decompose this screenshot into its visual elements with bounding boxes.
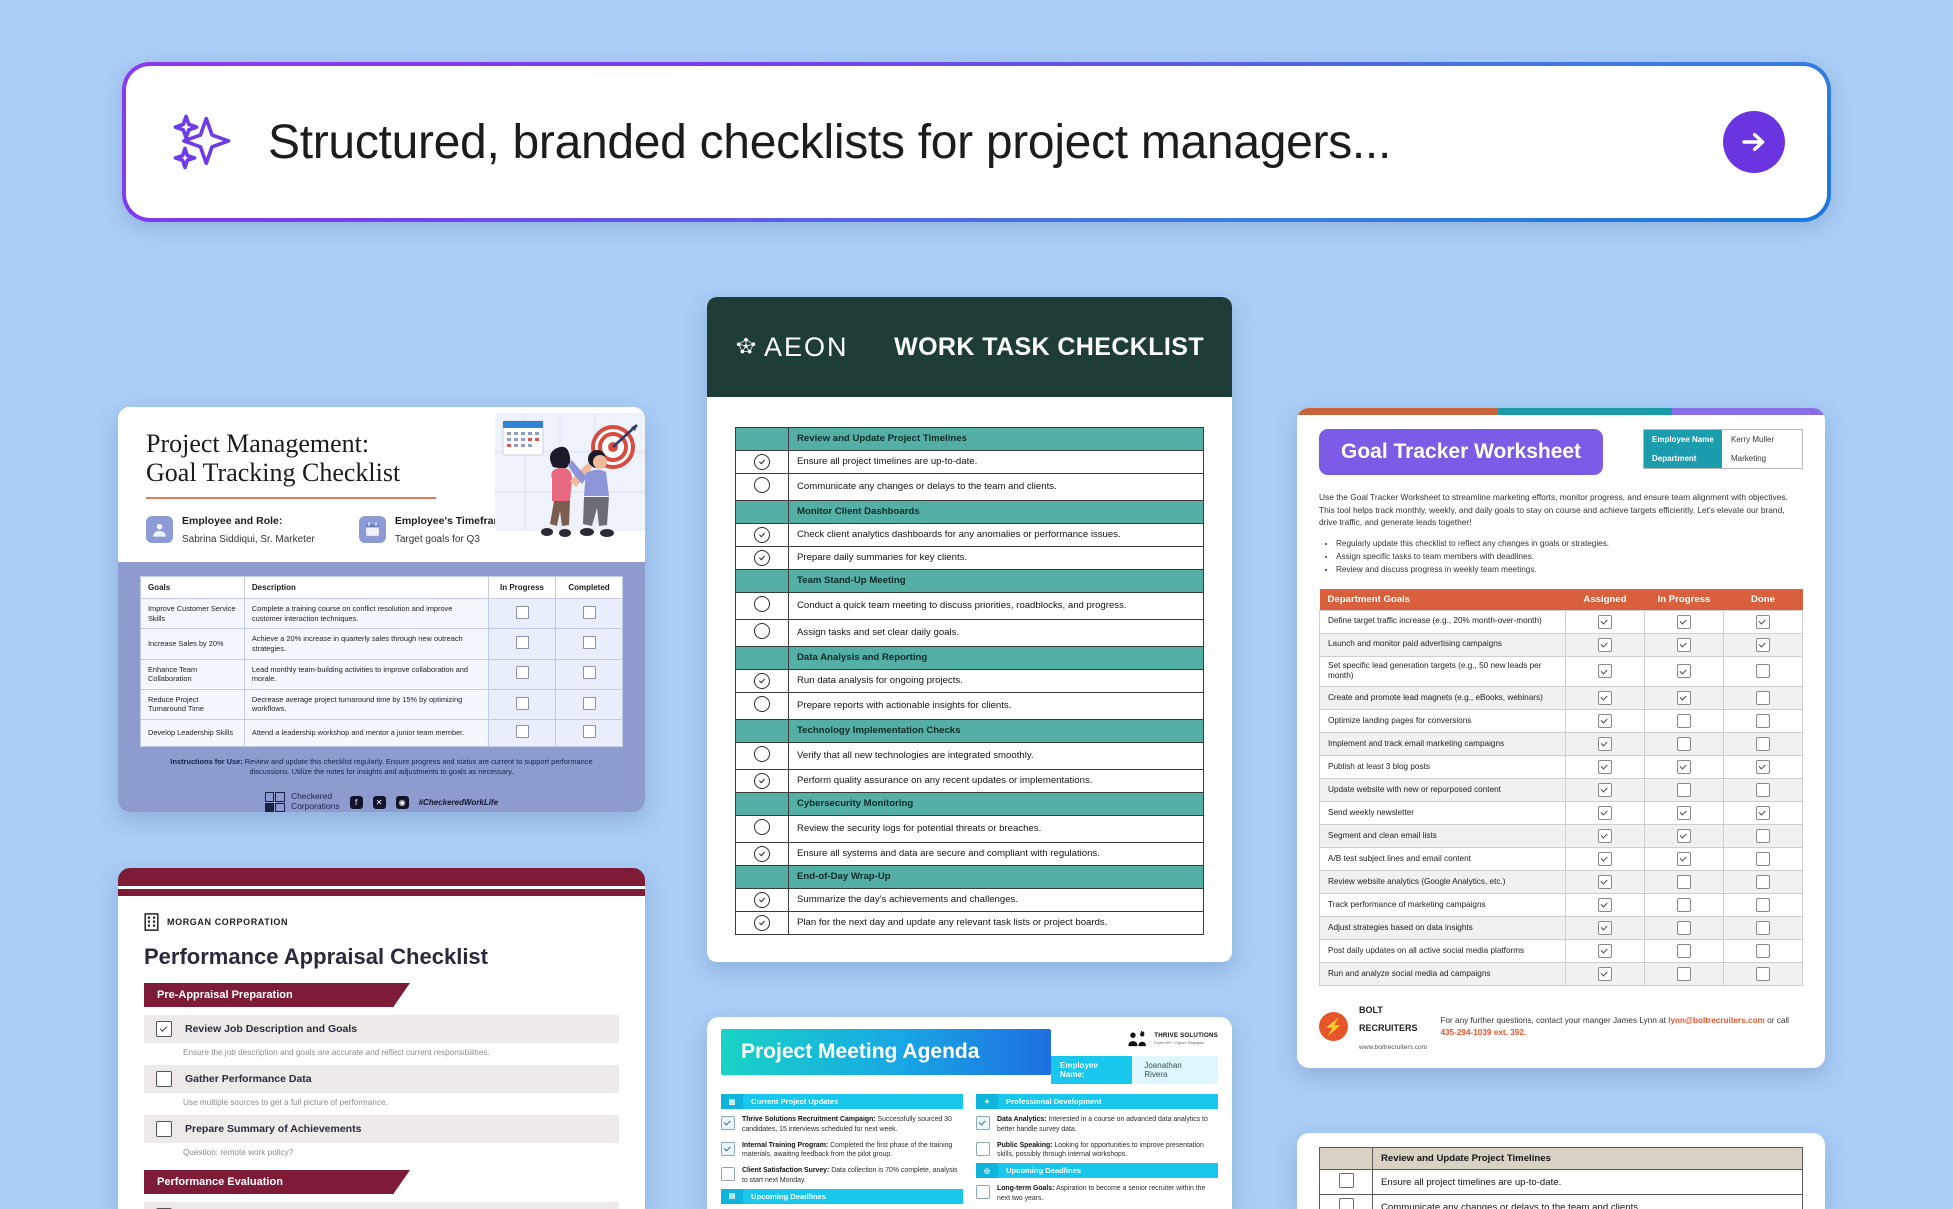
gt-cell-assigned[interactable] <box>1566 939 1645 962</box>
checkbox[interactable] <box>1339 1173 1354 1188</box>
pm-cell-in-progress[interactable] <box>489 720 556 747</box>
aeon-item-text: Run data analysis for ongoing projects. <box>789 669 1204 692</box>
section-heading-row: Monitor Client Dashboards <box>736 500 1204 523</box>
checkbox[interactable] <box>976 1185 990 1199</box>
gt-cell-in-progress[interactable] <box>1645 610 1724 633</box>
gt-cell-in-progress[interactable] <box>1645 656 1724 686</box>
chart-icon: ▥ <box>721 1094 743 1109</box>
checkbox[interactable] <box>1756 760 1770 774</box>
gt-cell-done[interactable] <box>1724 962 1803 985</box>
checkbox[interactable] <box>1677 944 1691 958</box>
gt-cell-done[interactable] <box>1724 686 1803 709</box>
checkbox-circle[interactable] <box>754 596 770 612</box>
pm-cell-completed[interactable] <box>556 720 623 747</box>
gt-cell-in-progress[interactable] <box>1645 870 1724 893</box>
checkbox[interactable] <box>1677 783 1691 797</box>
gt-stripe-bar <box>1297 408 1825 415</box>
table-row: Prepare daily summaries for key clients. <box>736 546 1204 569</box>
gt-cell-assigned[interactable] <box>1566 962 1645 985</box>
checkbox[interactable] <box>1677 806 1691 820</box>
section-heading-row: Review and Update Project Timelines <box>736 428 1204 451</box>
gt-cell-done[interactable] <box>1724 801 1803 824</box>
checkbox[interactable] <box>1677 875 1691 889</box>
person-icon <box>146 516 173 543</box>
aeon-check-cell[interactable] <box>736 742 789 769</box>
pm-brand-line1: Checkered <box>291 791 332 801</box>
table-row: Create and promote lead magnets (e.g., e… <box>1320 686 1803 709</box>
checkbox-circle[interactable] <box>754 819 770 835</box>
pm-cell-in-progress[interactable] <box>489 599 556 629</box>
checkbox[interactable] <box>583 636 596 649</box>
list-item[interactable]: Gather Performance Data <box>144 1065 619 1093</box>
table-row: Communicate any changes or delays to the… <box>736 473 1204 500</box>
checkbox[interactable] <box>976 1116 990 1130</box>
aeon-check-cell[interactable] <box>736 523 789 546</box>
gt-cell-in-progress[interactable] <box>1645 633 1724 656</box>
checkbox[interactable] <box>1677 737 1691 751</box>
checkbox[interactable] <box>1756 664 1770 678</box>
list-item[interactable]: Review Job Description and Goals <box>144 1015 619 1043</box>
checkbox[interactable] <box>1598 783 1612 797</box>
aeon-section-heading: Cybersecurity Monitoring <box>789 792 1204 815</box>
gt-cell-in-progress[interactable] <box>1645 939 1724 962</box>
card-review-timelines-peek[interactable]: Review and Update Project TimelinesEnsur… <box>1297 1133 1825 1209</box>
pm-cell-completed[interactable] <box>556 599 623 629</box>
gt-cell-assigned[interactable] <box>1566 893 1645 916</box>
section-heading-row: End-of-Day Wrap-Up <box>736 865 1204 888</box>
gt-cell-done[interactable] <box>1724 824 1803 847</box>
gt-content: Goal Tracker Worksheet Employee NameKerr… <box>1297 415 1825 1054</box>
gt-cell-goal: Send weekly newsletter <box>1320 801 1566 824</box>
checkbox[interactable] <box>1756 714 1770 728</box>
gt-cell-in-progress[interactable] <box>1645 755 1724 778</box>
pm-brand: CheckeredCorporations <box>265 792 340 812</box>
checkbox[interactable] <box>1756 638 1770 652</box>
checkbox-circle[interactable] <box>754 454 770 470</box>
checkbox[interactable] <box>1677 615 1691 629</box>
checkbox[interactable] <box>516 636 529 649</box>
checkbox[interactable] <box>721 1167 735 1181</box>
aeon-section-heading: Monitor Client Dashboards <box>789 500 1204 523</box>
aeon-check-cell[interactable] <box>736 473 789 500</box>
gt-cell-in-progress[interactable] <box>1645 847 1724 870</box>
table-row: Increase Sales by 20%Achieve a 20% incre… <box>141 629 623 659</box>
aeon-item-text: Prepare daily summaries for key clients. <box>789 546 1204 569</box>
gt-footer: ⚡ BOLT RECRUITERS www.boltrecruiters.com… <box>1319 1000 1803 1054</box>
gt-cell-in-progress[interactable] <box>1645 686 1724 709</box>
stripe-1 <box>1498 408 1672 415</box>
pm-cell-goal: Develop Leadership Skills <box>141 720 245 747</box>
table-row: Reduce Project Turnaround TimeDecrease a… <box>141 689 623 719</box>
list-item[interactable]: Internal Training Program: Completed the… <box>721 1138 963 1164</box>
checkbox-circle[interactable] <box>754 892 770 908</box>
checkbox[interactable] <box>1756 967 1770 981</box>
pf-sections: Pre-Appraisal PreparationReview Job Desc… <box>144 983 619 1209</box>
ag-item-text: Data Analytics: Interested in a course o… <box>997 1115 1218 1135</box>
list-item[interactable]: Thrive Solutions Recruitment Campaign: S… <box>721 1112 963 1138</box>
gt-col-in-progress: In Progress <box>1645 589 1724 611</box>
checkbox-circle[interactable] <box>754 773 770 789</box>
checkbox[interactable] <box>1756 875 1770 889</box>
checkbox-circle[interactable] <box>754 550 770 566</box>
checkbox[interactable] <box>1756 783 1770 797</box>
checkbox[interactable] <box>1598 714 1612 728</box>
gt-contact-text: For any further questions, contact your … <box>1440 1015 1803 1039</box>
prompt-input-text[interactable]: Structured, branded checklists for proje… <box>268 115 1723 170</box>
checkbox[interactable] <box>1598 852 1612 866</box>
pm-col-in-progress: In Progress <box>489 577 556 599</box>
card-aeon-work-task-checklist[interactable]: AEON WORK TASK CHECKLIST Review and Upda… <box>707 297 1232 962</box>
gt-cell-done[interactable] <box>1724 939 1803 962</box>
checkbox[interactable] <box>1677 638 1691 652</box>
pm-cell-in-progress[interactable] <box>489 629 556 659</box>
pm-footer: CheckeredCorporations f ✕ ◉ #CheckeredWo… <box>140 792 623 812</box>
aeon-check-cell[interactable] <box>736 546 789 569</box>
gt-cell-assigned[interactable] <box>1566 656 1645 686</box>
aeon-check-cell[interactable] <box>736 769 789 792</box>
aeon-checklist-table: Review and Update Project TimelinesEnsur… <box>735 427 1204 935</box>
pm-cell-desc: Achieve a 20% increase in quarterly sale… <box>244 629 488 659</box>
checkbox-circle[interactable] <box>754 673 770 689</box>
aeon-item-text: Perform quality assurance on any recent … <box>789 769 1204 792</box>
gt-cell-done[interactable] <box>1724 847 1803 870</box>
checkbox[interactable] <box>156 1021 172 1037</box>
table-row: Update website with new or repurposed co… <box>1320 778 1803 801</box>
list-item[interactable]: Data Analytics: Interested in a course o… <box>976 1112 1218 1138</box>
aeon-logo-text: AEON <box>764 332 849 363</box>
checkbox[interactable] <box>1677 967 1691 981</box>
aeon-item-text: Prepare reports with actionable insights… <box>789 692 1204 719</box>
pf-item-note: Ensure the job description and goals are… <box>183 1048 619 1057</box>
gt-cell-assigned[interactable] <box>1566 709 1645 732</box>
gt-cell-in-progress[interactable] <box>1645 916 1724 939</box>
x-icon[interactable]: ✕ <box>373 796 386 809</box>
checkbox[interactable] <box>1598 875 1612 889</box>
gt-contact-email[interactable]: lynn@boltrecruiters.com <box>1668 1016 1765 1025</box>
checkbox[interactable] <box>1677 898 1691 912</box>
pm-instructions-text: Review and update this checklist regular… <box>243 757 593 777</box>
gt-cell-assigned[interactable] <box>1566 686 1645 709</box>
checkered-logo-icon <box>265 792 285 812</box>
thrive-people-icon <box>1127 1031 1149 1047</box>
ag-item-text: Long-term Goals: Aspiration to become a … <box>997 1184 1218 1204</box>
gt-brand-name: BOLT RECRUITERS <box>1359 1005 1418 1033</box>
gt-cell-done[interactable] <box>1724 893 1803 916</box>
pm-hashtag: #CheckeredWorkLife <box>419 798 498 807</box>
gt-bullet-list: Regularly update this checklist to refle… <box>1319 537 1803 577</box>
checkbox[interactable] <box>1598 967 1612 981</box>
card-performance-appraisal-checklist[interactable]: MORGAN CORPORATION Performance Appraisal… <box>118 868 645 1209</box>
ag-employee-field: Employee Name: Joanathan Rivera <box>1051 1056 1218 1084</box>
pm-cell-completed[interactable] <box>556 629 623 659</box>
table-row: Publish at least 3 blog posts <box>1320 755 1803 778</box>
checkbox[interactable] <box>1598 921 1612 935</box>
facebook-icon[interactable]: f <box>350 796 363 809</box>
checkbox[interactable] <box>1756 852 1770 866</box>
gt-cell-assigned[interactable] <box>1566 778 1645 801</box>
checkbox[interactable] <box>1677 714 1691 728</box>
gt-cell-assigned[interactable] <box>1566 610 1645 633</box>
gt-cell-in-progress[interactable] <box>1645 709 1724 732</box>
checkbox[interactable] <box>1677 921 1691 935</box>
gt-title: Goal Tracker Worksheet <box>1319 429 1603 475</box>
checkbox[interactable] <box>1756 615 1770 629</box>
gt-field-value-1[interactable]: Marketing <box>1722 449 1802 468</box>
table-row: Review website analytics (Google Analyti… <box>1320 870 1803 893</box>
table-row: Define target traffic increase (e.g., 20… <box>1320 610 1803 633</box>
checkbox[interactable] <box>1756 898 1770 912</box>
checkbox[interactable] <box>1677 852 1691 866</box>
checkbox[interactable] <box>1598 760 1612 774</box>
checkbox[interactable] <box>976 1142 990 1156</box>
checkbox-circle[interactable] <box>754 623 770 639</box>
checkbox[interactable] <box>583 666 596 679</box>
aeon-logo: AEON <box>735 332 849 363</box>
stripe-2 <box>1672 408 1825 415</box>
table-row: Segment and clean email lists <box>1320 824 1803 847</box>
stripe-0 <box>1297 408 1498 415</box>
checkbox[interactable] <box>1339 1198 1354 1209</box>
pm-cell-completed[interactable] <box>556 659 623 689</box>
ag-item-text: Thrive Solutions Recruitment Campaign: S… <box>742 1115 963 1135</box>
checkbox[interactable] <box>1756 806 1770 820</box>
checkbox-circle[interactable] <box>754 477 770 493</box>
gt-cell-assigned[interactable] <box>1566 633 1645 656</box>
gt-cell-assigned[interactable] <box>1566 824 1645 847</box>
gt-cell-goal: Review website analytics (Google Analyti… <box>1320 870 1566 893</box>
aeon-check-cell[interactable] <box>736 842 789 865</box>
table-row: Optimize landing pages for conversions <box>1320 709 1803 732</box>
checkbox[interactable] <box>1756 691 1770 705</box>
pm-col-completed: Completed <box>556 577 623 599</box>
pm-goals-table: Goals Description In Progress Completed … <box>140 576 623 747</box>
pm-cell-desc: Attend a leadership workshop and mentor … <box>244 720 488 747</box>
pm-divider <box>146 497 436 499</box>
checkbox[interactable] <box>516 606 529 619</box>
gt-cell-in-progress[interactable] <box>1645 824 1724 847</box>
aeon-check-cell[interactable] <box>736 619 789 646</box>
aeon-item-text: Plan for the next day and update any rel… <box>789 911 1204 934</box>
table-row: Adjust strategies based on data insights <box>1320 916 1803 939</box>
pm-table-header-row: Goals Description In Progress Completed <box>141 577 623 599</box>
ag-employee-label: Employee Name: <box>1051 1056 1132 1084</box>
pm-cell-completed[interactable] <box>556 689 623 719</box>
aeon-check-cell[interactable] <box>736 888 789 911</box>
gt-cell-done[interactable] <box>1724 633 1803 656</box>
submit-button[interactable] <box>1723 111 1785 173</box>
list-item[interactable]: Long-term Goals: Aspiration to become a … <box>976 1181 1218 1207</box>
gt-cell-assigned[interactable] <box>1566 801 1645 824</box>
gt-cell-done[interactable] <box>1724 610 1803 633</box>
gt-cell-assigned[interactable] <box>1566 916 1645 939</box>
gt-brand-url: www.boltrecruiters.com <box>1359 1044 1427 1051</box>
checkbox[interactable] <box>1598 691 1612 705</box>
card-project-meeting-agenda[interactable]: Project Meeting Agenda THRIVE SOLUTIONSE… <box>707 1017 1232 1209</box>
checkbox[interactable] <box>1677 664 1691 678</box>
pm-body: Goals Description In Progress Completed … <box>118 562 645 812</box>
bolt-icon: ⚡ <box>1319 1012 1348 1041</box>
table-row: Run and analyze social media ad campaign… <box>1320 962 1803 985</box>
pf-title: Performance Appraisal Checklist <box>144 944 619 970</box>
gt-cell-assigned[interactable] <box>1566 847 1645 870</box>
table-row: Enhance Team CollaborationLead monthly t… <box>141 659 623 689</box>
list-item[interactable]: Evaluate Performance Against Goals <box>144 1202 619 1209</box>
pf-second-bar <box>118 889 645 896</box>
gt-contact-pre: For any further questions, contact your … <box>1440 1016 1668 1025</box>
ag-employee-value[interactable]: Joanathan Rivera <box>1132 1056 1218 1084</box>
list-item[interactable]: Public Speaking: Looking for opportuniti… <box>976 1138 1218 1164</box>
gt-cell-done[interactable] <box>1724 755 1803 778</box>
checkbox[interactable] <box>156 1071 172 1087</box>
gt-cell-done[interactable] <box>1724 732 1803 755</box>
pf-content: MORGAN CORPORATION Performance Appraisal… <box>118 896 645 1209</box>
pm-col-goals: Goals <box>141 577 245 599</box>
instagram-icon[interactable]: ◉ <box>396 796 409 809</box>
table-row: Track performance of marketing campaigns <box>1320 893 1803 916</box>
gt-field-label-1: Department <box>1644 449 1722 468</box>
table-row: Send weekly newsletter <box>1320 801 1803 824</box>
table-row: Ensure all systems and data are secure a… <box>736 842 1204 865</box>
gt-cell-goal: Implement and track email marketing camp… <box>1320 732 1566 755</box>
list-item[interactable]: Prepare Summary of Achievements <box>144 1115 619 1143</box>
pf-item-note: Use multiple sources to get a full pictu… <box>183 1098 619 1107</box>
checkbox[interactable] <box>156 1121 172 1137</box>
aeon-check-cell[interactable] <box>736 911 789 934</box>
gt-cell-goal: Adjust strategies based on data insights <box>1320 916 1566 939</box>
gt-cell-assigned[interactable] <box>1566 870 1645 893</box>
checkbox[interactable] <box>721 1142 735 1156</box>
checkbox[interactable] <box>1598 944 1612 958</box>
pf-section-heading: Pre-Appraisal Preparation <box>144 983 394 1007</box>
gt-col-assigned: Assigned <box>1566 589 1645 611</box>
checkbox[interactable] <box>721 1116 735 1130</box>
checkbox[interactable] <box>1598 664 1612 678</box>
ag-section-heading: ▤Upcoming Deadlines <box>721 1189 963 1204</box>
aeon-section-heading: Team Stand-Up Meeting <box>789 569 1204 592</box>
ag-section-label: Current Project Updates <box>743 1097 838 1106</box>
pm-meta-employee-label: Employee and Role: <box>182 515 282 527</box>
pm-cell-in-progress[interactable] <box>489 689 556 719</box>
gt-cell-goal: Publish at least 3 blog posts <box>1320 755 1566 778</box>
ag-logo-name: THRIVE SOLUTIONS <box>1154 1032 1218 1039</box>
checkbox[interactable] <box>1598 806 1612 820</box>
checkbox-circle[interactable] <box>754 696 770 712</box>
table-row: Improve Customer Service SkillsComplete … <box>141 599 623 629</box>
gt-cell-in-progress[interactable] <box>1645 962 1724 985</box>
ag-logo: THRIVE SOLUTIONSExpert HR + Culture Stra… <box>1051 1031 1218 1047</box>
pm-cell-desc: Complete a training course on conflict r… <box>244 599 488 629</box>
aeon-check-cell[interactable] <box>736 692 789 719</box>
table-row: Implement and track email marketing camp… <box>1320 732 1803 755</box>
checkbox-circle[interactable] <box>754 846 770 862</box>
ag-section-label: Upcoming Deadlines <box>743 1192 826 1201</box>
ag-title: Project Meeting Agenda <box>721 1029 1051 1075</box>
checkbox[interactable] <box>583 606 596 619</box>
gt-field-value-0[interactable]: Kerry Muller <box>1722 430 1802 449</box>
gt-cell-assigned[interactable] <box>1566 755 1645 778</box>
aeon-section-heading: Technology Implementation Checks <box>789 719 1204 742</box>
pf-item-title: Review Job Description and Goals <box>185 1023 357 1035</box>
aeon-item-text: Summarize the day's achievements and cha… <box>789 888 1204 911</box>
checkbox[interactable] <box>583 697 596 710</box>
section-heading-row: Team Stand-Up Meeting <box>736 569 1204 592</box>
pk-check-cell[interactable] <box>1320 1170 1373 1195</box>
checkbox[interactable] <box>1598 615 1612 629</box>
checkbox[interactable] <box>516 725 529 738</box>
prompt-bar[interactable]: Structured, branded checklists for proje… <box>122 62 1831 222</box>
ag-item-text: Internal Training Program: Completed the… <box>742 1141 963 1161</box>
pm-col-description: Description <box>244 577 488 599</box>
pm-cell-in-progress[interactable] <box>489 659 556 689</box>
gt-col-done: Done <box>1724 589 1803 611</box>
target-icon: ◎ <box>976 1163 998 1178</box>
checkbox[interactable] <box>1598 638 1612 652</box>
section-heading-row: Technology Implementation Checks <box>736 719 1204 742</box>
gt-cell-done[interactable] <box>1724 916 1803 939</box>
gt-cell-done[interactable] <box>1724 709 1803 732</box>
pk-check-cell[interactable] <box>1320 1195 1373 1209</box>
aeon-body: Review and Update Project TimelinesEnsur… <box>707 397 1232 962</box>
ag-right-column: ✦Professional DevelopmentData Analytics:… <box>976 1094 1218 1209</box>
checkbox[interactable] <box>1756 737 1770 751</box>
building-icon <box>144 913 159 931</box>
gt-cell-in-progress[interactable] <box>1645 732 1724 755</box>
checkbox[interactable] <box>1677 760 1691 774</box>
checkbox[interactable] <box>1598 898 1612 912</box>
aeon-section-heading: Review and Update Project Timelines <box>789 428 1204 451</box>
aeon-check-cell[interactable] <box>736 815 789 842</box>
pm-brand-line2: Corporations <box>291 801 340 811</box>
aeon-check-cell[interactable] <box>736 669 789 692</box>
ag-left-column: ▥Current Project UpdatesThrive Solutions… <box>721 1094 963 1209</box>
aeon-check-cell[interactable] <box>736 592 789 619</box>
table-row: A/B test subject lines and email content <box>1320 847 1803 870</box>
checkbox[interactable] <box>1677 829 1691 843</box>
gt-cell-in-progress[interactable] <box>1645 778 1724 801</box>
pf-item-title: Prepare Summary of Achievements <box>185 1123 361 1135</box>
gt-cell-in-progress[interactable] <box>1645 893 1724 916</box>
calendar-icon <box>359 516 386 543</box>
gt-intro: Use the Goal Tracker Worksheet to stream… <box>1319 491 1803 529</box>
pf-top-bar <box>118 868 645 886</box>
gt-cell-done[interactable] <box>1724 778 1803 801</box>
card-project-management-goal-tracking[interactable]: Project Management: Goal Tracking Checkl… <box>118 407 645 812</box>
checkbox[interactable] <box>1598 737 1612 751</box>
checkbox-circle[interactable] <box>754 527 770 543</box>
checkbox[interactable] <box>1756 921 1770 935</box>
aeon-item-text: Conduct a quick team meeting to discuss … <box>789 592 1204 619</box>
card-goal-tracker-worksheet[interactable]: Goal Tracker Worksheet Employee NameKerr… <box>1297 408 1825 1068</box>
gt-cell-done[interactable] <box>1724 870 1803 893</box>
list-item[interactable]: Client Satisfaction Survey: Data collect… <box>721 1163 963 1189</box>
checkbox-circle[interactable] <box>754 915 770 931</box>
checkbox[interactable] <box>1677 691 1691 705</box>
checkbox[interactable] <box>583 725 596 738</box>
checkbox[interactable] <box>516 666 529 679</box>
pk-content: Review and Update Project TimelinesEnsur… <box>1297 1133 1825 1209</box>
checkbox[interactable] <box>1756 829 1770 843</box>
gt-cell-goal: Track performance of marketing campaigns <box>1320 893 1566 916</box>
gt-cell-done[interactable] <box>1724 656 1803 686</box>
checkbox-circle[interactable] <box>754 746 770 762</box>
checkbox[interactable] <box>1598 829 1612 843</box>
gt-cell-in-progress[interactable] <box>1645 801 1724 824</box>
checkbox[interactable] <box>1756 944 1770 958</box>
aeon-check-cell[interactable] <box>736 450 789 473</box>
checkbox[interactable] <box>516 697 529 710</box>
gt-cell-goal: Segment and clean email lists <box>1320 824 1566 847</box>
gt-cell-assigned[interactable] <box>1566 732 1645 755</box>
